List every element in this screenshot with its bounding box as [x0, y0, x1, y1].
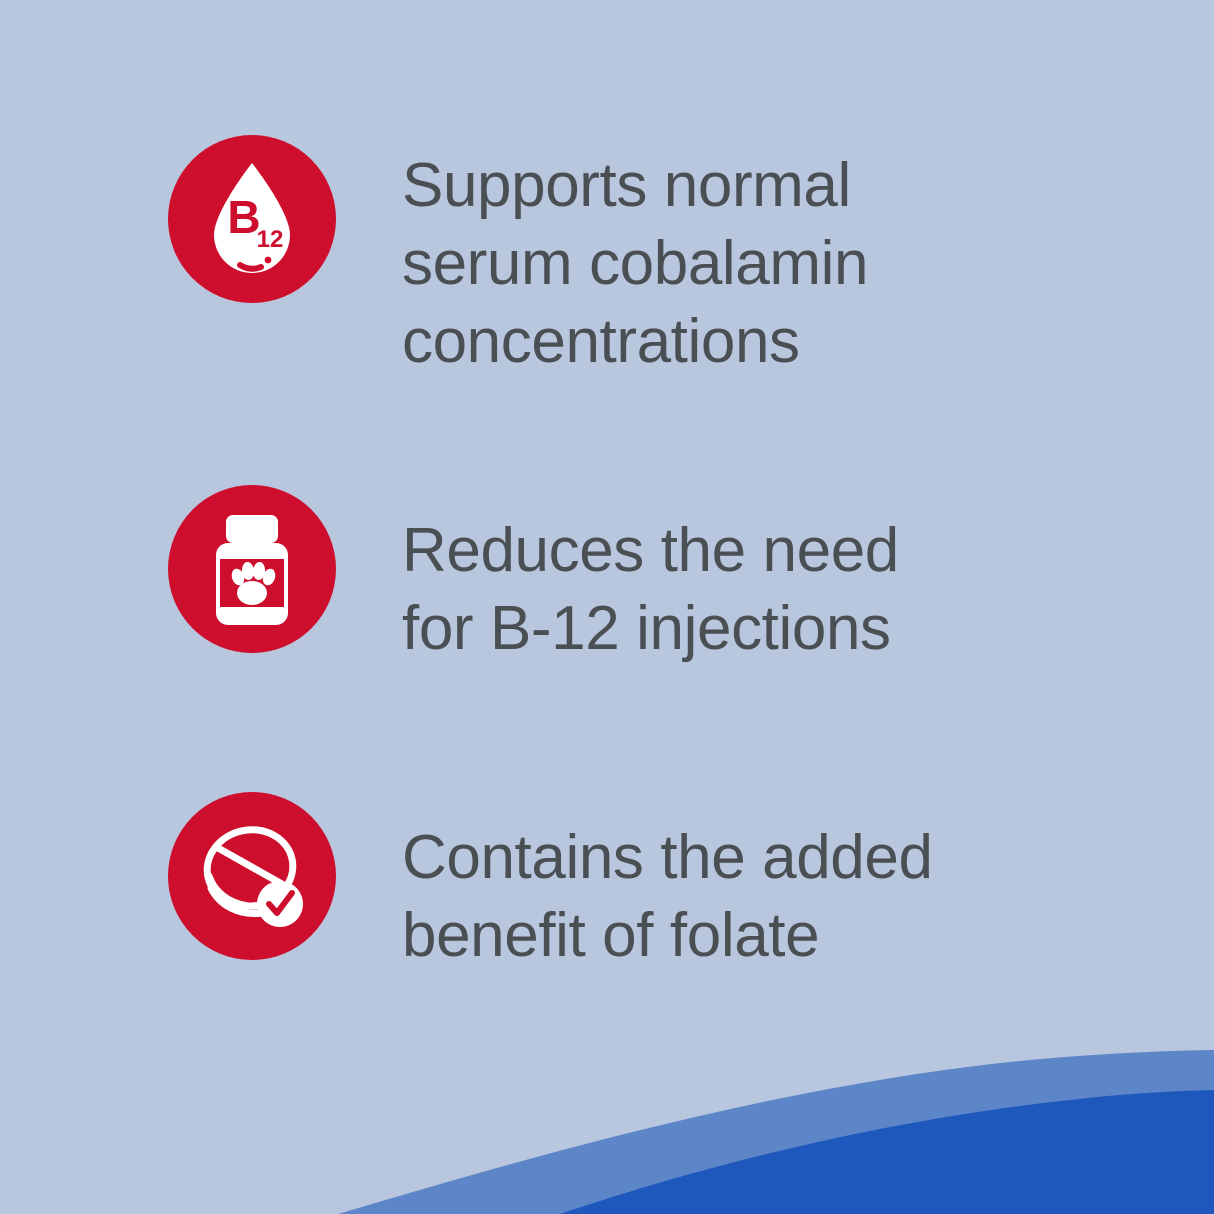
pill-bottle-paw-icon — [168, 485, 336, 653]
b12-subscript: 12 — [257, 226, 284, 253]
feature-row: Reduces the need for B-12 injections — [0, 485, 1214, 668]
feature-text: Contains the added benefit of folate — [402, 819, 1102, 975]
feature-text: Reduces the need for B-12 injections — [402, 512, 1102, 668]
tablet-check-icon — [168, 792, 336, 960]
b12-letter: B — [227, 191, 260, 243]
feature-row: Contains the added benefit of folate — [0, 792, 1214, 975]
blood-drop-b12-icon: B 12 — [168, 135, 336, 303]
promo-graphic: B 12 Supports normal serum cobalamin con… — [0, 0, 1214, 1214]
feature-row: B 12 Supports normal serum cobalamin con… — [0, 135, 1214, 381]
feature-text: Supports normal serum cobalamin concentr… — [402, 147, 1102, 381]
